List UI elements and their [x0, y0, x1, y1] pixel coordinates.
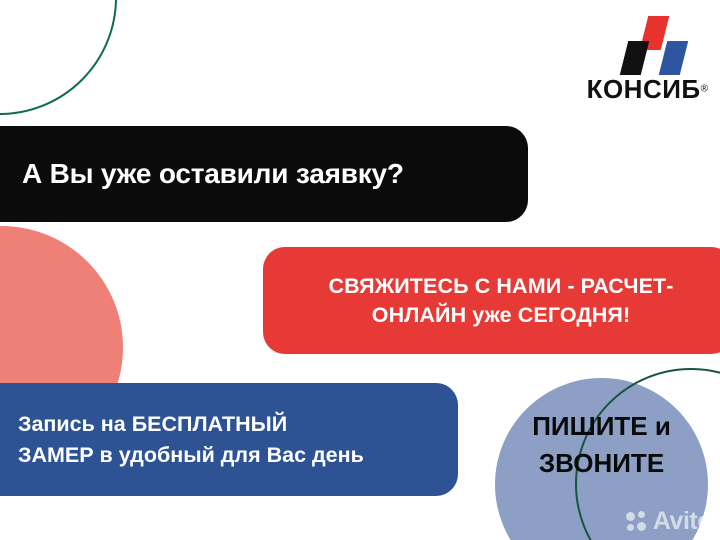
logo-parallelogram-blue-icon	[659, 41, 688, 75]
logo-wordmark-row: КОНСИБ®	[578, 74, 708, 105]
registered-trademark-icon: ®	[701, 84, 708, 95]
question-banner: А Вы уже оставили заявку?	[0, 126, 528, 222]
free-measurement-line-1: Запись на БЕСПЛАТНЫЙ	[18, 409, 440, 440]
green-ring-top-decoration	[0, 0, 117, 115]
avito-watermark: Avito	[626, 509, 712, 534]
contact-cta-banner: СВЯЖИТЕСЬ С НАМИ - РАСЧЕТ- ОНЛАЙН уже СЕ…	[263, 247, 720, 354]
contact-cta-line-1: СВЯЖИТЕСЬ С НАМИ - РАСЧЕТ-	[328, 272, 673, 300]
logo-wordmark: КОНСИБ	[587, 74, 701, 104]
brand-logo: КОНСИБ®	[578, 16, 708, 104]
avito-logo-icon	[626, 511, 648, 533]
avito-watermark-text: Avito	[653, 509, 712, 534]
free-measurement-banner: Запись на БЕСПЛАТНЫЙ ЗАМЕР в удобный для…	[0, 383, 458, 496]
logo-parallelogram-black-icon	[620, 41, 649, 75]
logo-mark-icon	[618, 16, 688, 72]
contact-cta-line-2: ОНЛАЙН уже СЕГОДНЯ!	[372, 301, 631, 329]
question-banner-line-1: А Вы уже оставили заявку?	[22, 158, 506, 190]
free-measurement-line-2: ЗАМЕР в удобный для Вас день	[18, 440, 440, 471]
promo-poster: КОНСИБ® А Вы уже оставили заявку? СВЯЖИТ…	[0, 0, 720, 540]
